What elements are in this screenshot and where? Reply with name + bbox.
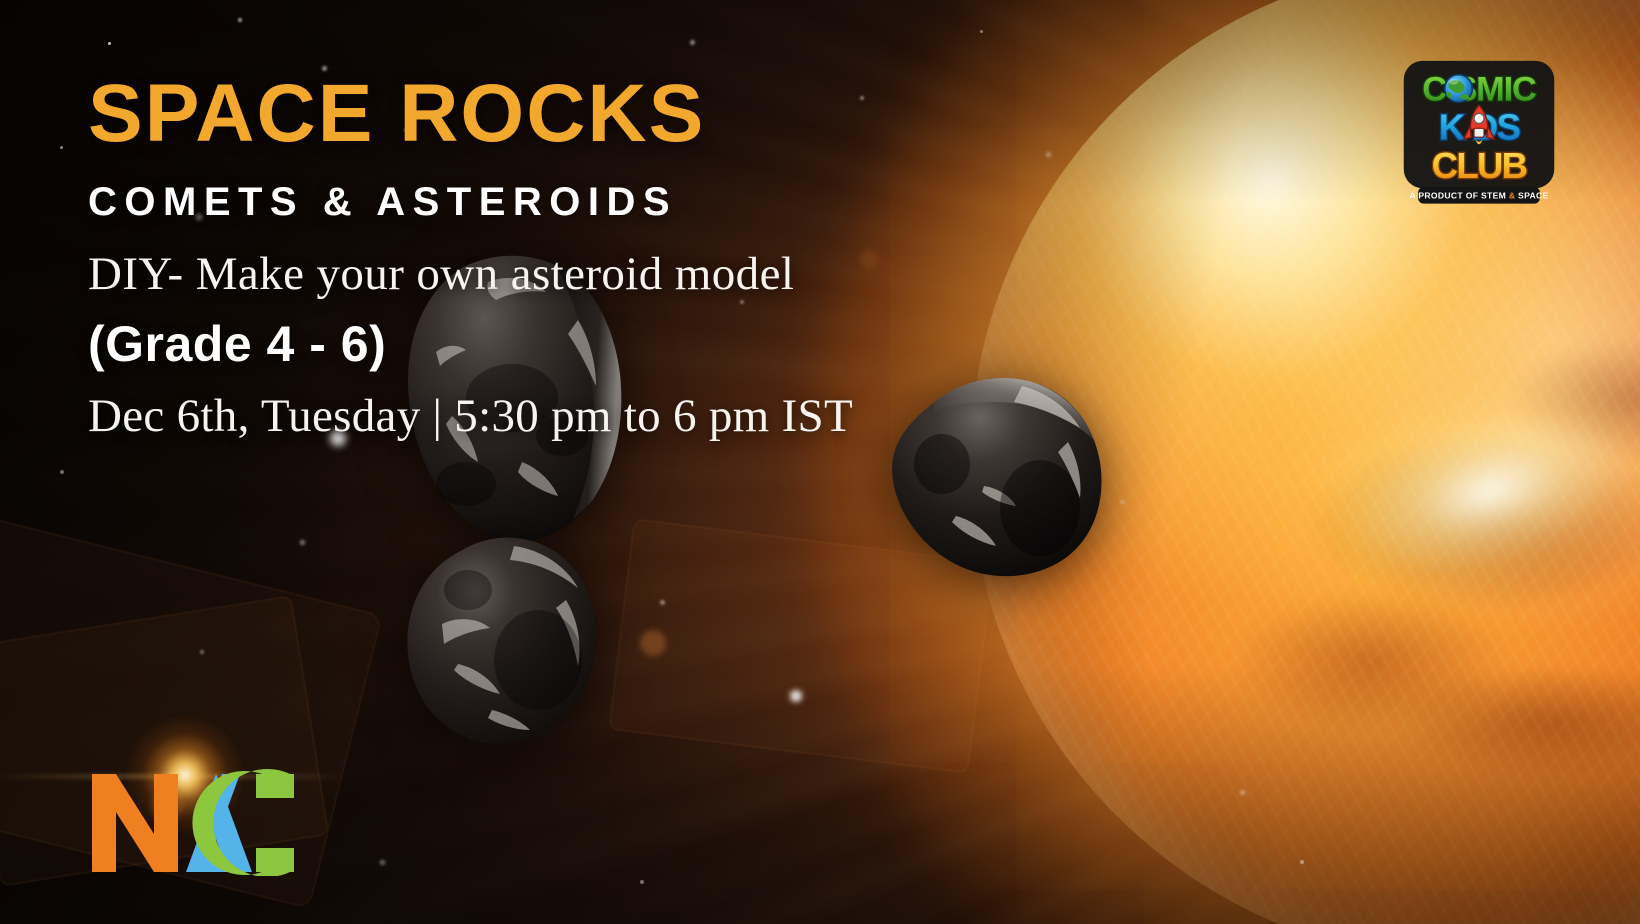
- logo-word-kids: K DS: [1439, 105, 1520, 147]
- nac-logo-mark: [88, 768, 300, 876]
- earth-globe-icon: [1445, 75, 1473, 103]
- logo-word-cosmic: C SMIC: [1422, 71, 1536, 109]
- page-title: SPACE ROCKS: [88, 74, 1088, 154]
- cosmic-kids-club-logo-mark: C SMIC K DS: [1396, 52, 1562, 218]
- cosmic-kids-club-logo[interactable]: C SMIC K DS: [1396, 52, 1562, 218]
- logo-word-club: CLUB: [1432, 145, 1527, 186]
- nac-letter-n: [92, 774, 178, 872]
- poster-canvas: SPACE ROCKS COMETS & ASTEROIDS DIY- Make…: [0, 0, 1640, 924]
- svg-text:A PRODUCT OF STEM & SPACE: A PRODUCT OF STEM & SPACE: [1409, 191, 1548, 201]
- svg-text:C SMIC: C SMIC: [1422, 71, 1536, 109]
- grade-range-label: (Grade 4 - 6): [88, 315, 1088, 373]
- copy-block: SPACE ROCKS COMETS & ASTEROIDS DIY- Make…: [88, 74, 1088, 443]
- activity-line: DIY- Make your own asteroid model: [88, 247, 1088, 301]
- svg-text:CLUB: CLUB: [1432, 145, 1527, 186]
- asteroid-lower-shape: [396, 528, 608, 750]
- nac-logo[interactable]: [88, 768, 300, 876]
- nac-letter-c-fill: [256, 774, 294, 872]
- logo-tagline: A PRODUCT OF STEM & SPACE: [1409, 187, 1548, 204]
- page-subtitle: COMETS & ASTEROIDS: [88, 180, 1088, 225]
- schedule-line: Dec 6th, Tuesday | 5:30 pm to 6 pm IST: [88, 389, 1088, 443]
- asteroid-lower: [396, 528, 608, 750]
